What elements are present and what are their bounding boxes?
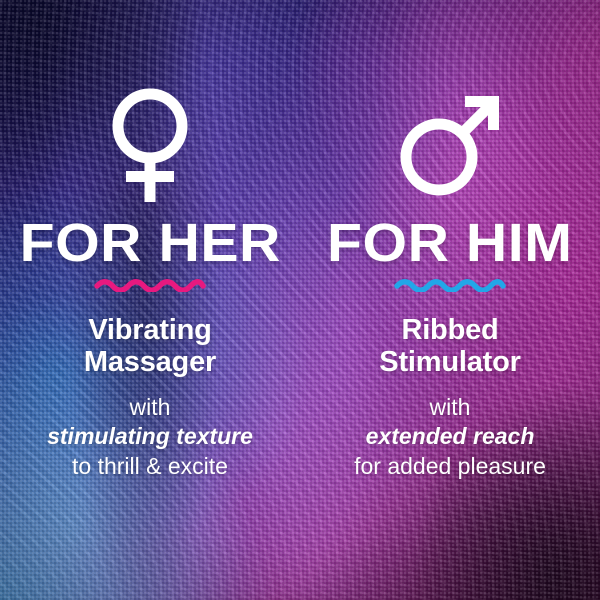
description-line-1: with <box>430 394 471 420</box>
product-name-line-1: Vibrating <box>88 314 211 346</box>
column-for-him: FOR HIM Ribbed Stimulator with extended … <box>300 0 600 600</box>
description-for-her: with stimulating texture to thrill & exc… <box>47 393 253 481</box>
description-line-3: to thrill & excite <box>72 453 228 479</box>
promo-graphic: FOR HER Vibrating Massager with stimulat… <box>0 0 600 600</box>
product-name-for-her: Vibrating Massager <box>84 314 216 379</box>
product-name-line-2: Stimulator <box>379 346 520 378</box>
description-for-him: with extended reach for added pleasure <box>354 393 546 481</box>
female-venus-symbol-icon <box>102 84 198 202</box>
male-mars-symbol-icon <box>395 84 505 202</box>
product-name-line-1: Ribbed <box>401 314 498 346</box>
description-line-1: with <box>130 394 171 420</box>
headline-for-him: FOR HIM <box>327 216 572 270</box>
product-name-for-him: Ribbed Stimulator <box>379 314 520 379</box>
squiggle-accent-pink <box>94 276 206 292</box>
description-line-2-emphasis: stimulating texture <box>47 423 253 449</box>
squiggle-accent-blue <box>394 276 506 292</box>
description-line-2-emphasis: extended reach <box>366 423 535 449</box>
product-name-line-2: Massager <box>84 346 216 378</box>
description-line-3: for added pleasure <box>354 453 546 479</box>
headline-for-her: FOR HER <box>19 216 280 270</box>
column-for-her: FOR HER Vibrating Massager with stimulat… <box>0 0 300 600</box>
content-columns: FOR HER Vibrating Massager with stimulat… <box>0 0 600 600</box>
